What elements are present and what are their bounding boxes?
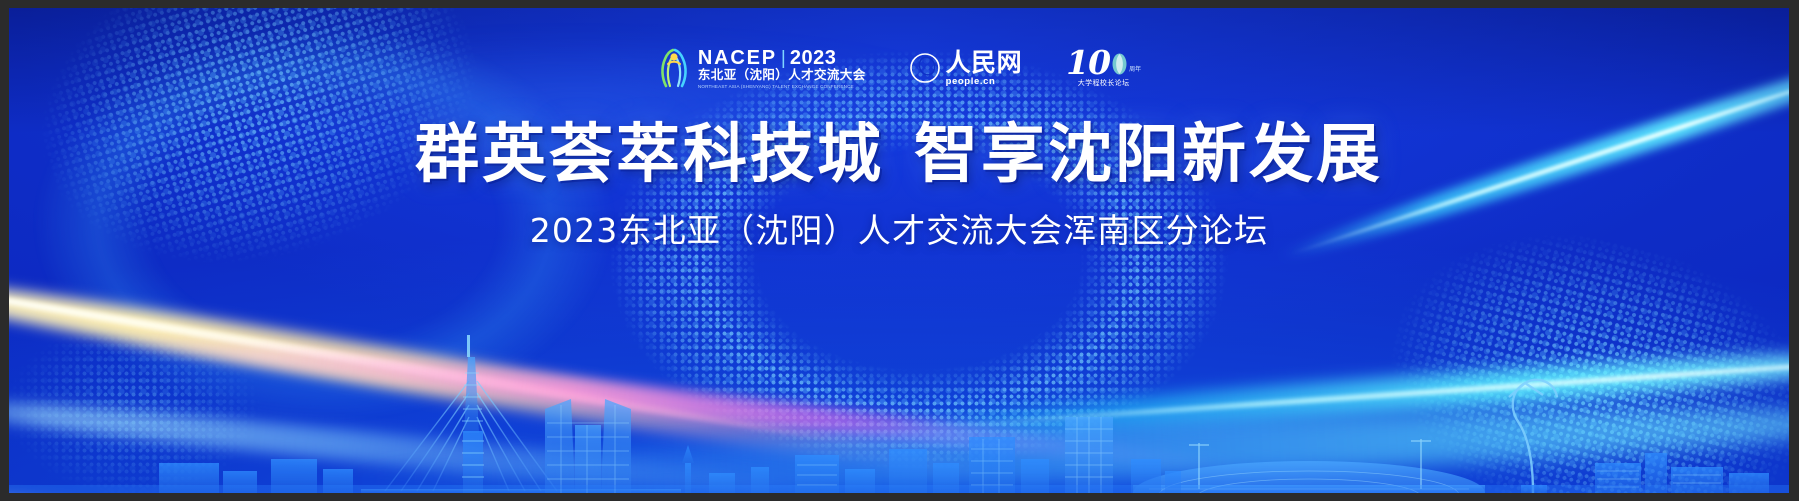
event-banner: NACEP | 2023 东北亚（沈阳）人才交流大会 NORTHEAST ASI… [0, 0, 1799, 501]
anniversary-superscript: 周年 [1129, 64, 1141, 73]
anniversary-chinese-text: 大学程校长论坛 [1078, 78, 1130, 88]
title-part-2: 智享沈阳新发展 [914, 118, 1383, 192]
people-chinese-name: 人民网 [946, 50, 1023, 75]
nacep-english-sub: NORTHEAST ASIA (SHENYANG) TALENT EXCHANG… [698, 84, 866, 89]
anniversary-leaf-icon [1112, 53, 1127, 75]
people-text-lockup: 人民网 people.cn [946, 50, 1023, 87]
people-cn-globe-icon [910, 53, 940, 83]
banner-stage: NACEP | 2023 东北亚（沈阳）人才交流大会 NORTHEAST ASI… [9, 8, 1789, 493]
city-skyline [9, 313, 1789, 493]
logo-bar: NACEP | 2023 东北亚（沈阳）人才交流大会 NORTHEAST ASI… [9, 48, 1789, 89]
nacep-figure-icon [657, 48, 691, 88]
nacep-year: 2023 [790, 48, 837, 68]
headline-block: 群英荟萃科技城智享沈阳新发展 2023东北亚（沈阳）人才交流大会浑南区分论坛 [9, 121, 1789, 252]
nacep-divider: | [781, 49, 786, 68]
nacep-text-lockup: NACEP | 2023 东北亚（沈阳）人才交流大会 NORTHEAST ASI… [698, 48, 866, 89]
title-part-1: 群英荟萃科技城 [415, 118, 884, 192]
page-subtitle: 2023东北亚（沈阳）人才交流大会浑南区分论坛 [9, 204, 1789, 252]
anniversary-number: 10 [1066, 48, 1110, 77]
logo-people-cn: 人民网 people.cn [910, 50, 1023, 87]
nacep-latin-name: NACEP [698, 48, 777, 68]
people-latin-name: people.cn [946, 77, 996, 87]
logo-nacep: NACEP | 2023 东北亚（沈阳）人才交流大会 NORTHEAST ASI… [657, 48, 866, 89]
logo-tenth-anniversary: 10 周年 大学程校长论坛 [1066, 48, 1141, 88]
nacep-chinese-name: 东北亚（沈阳）人才交流大会 [698, 69, 866, 83]
page-title: 群英荟萃科技城智享沈阳新发展 [415, 121, 1383, 190]
